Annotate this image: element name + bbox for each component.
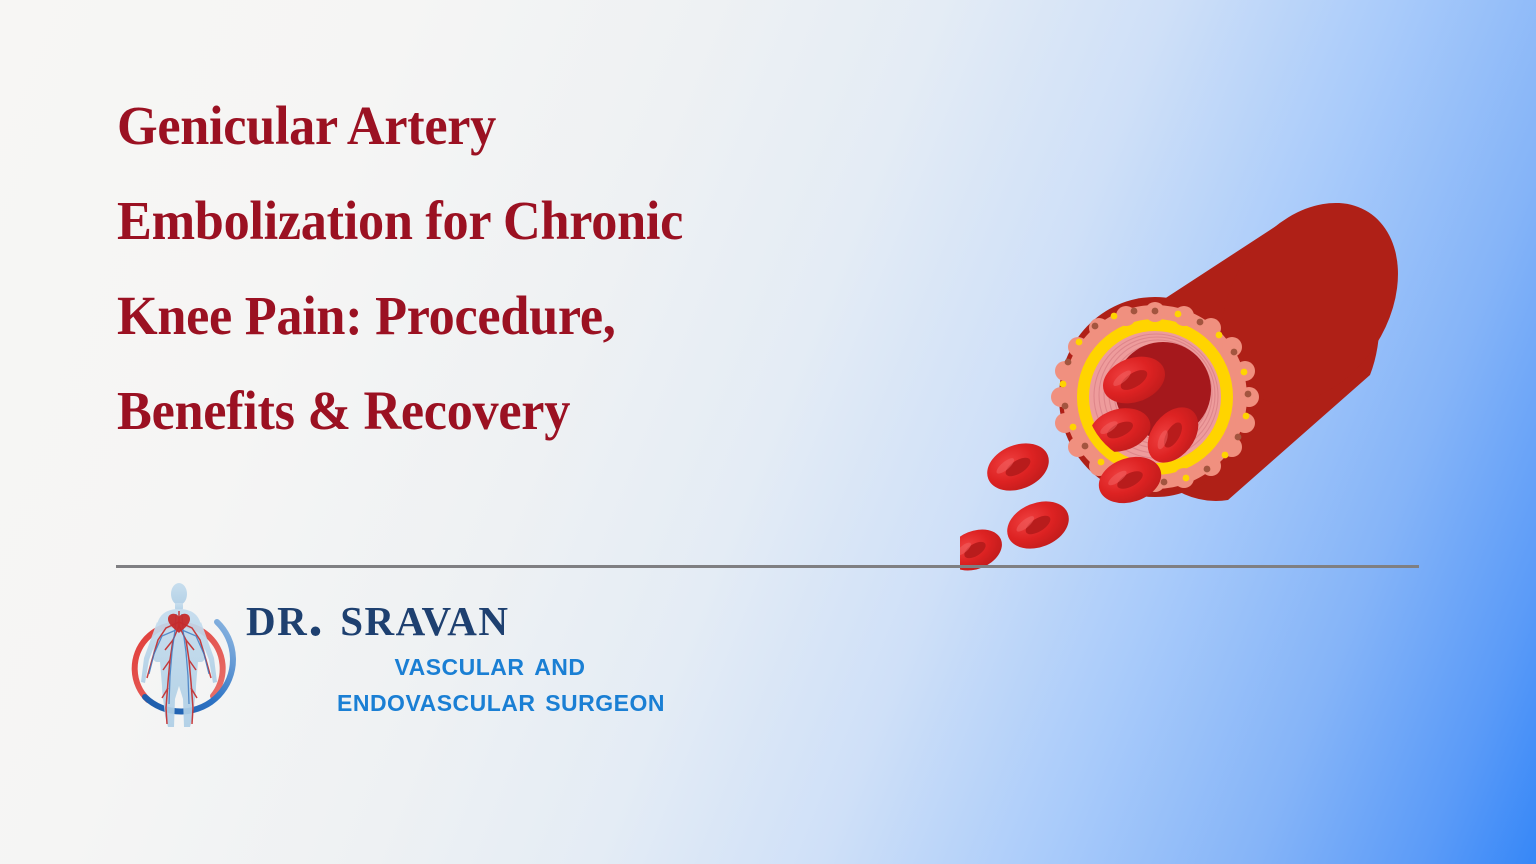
escaping-blood-cells	[960, 435, 1076, 578]
title-line-1: Genicular Artery	[117, 78, 839, 173]
title-line-4: Benefits & Recovery	[117, 363, 839, 458]
artery-cross-section-illustration	[960, 185, 1430, 585]
logo-wordmark: Dr. Sravan Vascular and Endovascular sur…	[246, 586, 756, 718]
brand-logo: Dr. Sravan Vascular and Endovascular sur…	[118, 578, 758, 733]
brand-name: Dr. Sravan	[246, 586, 756, 646]
logo-mark-svg	[118, 578, 240, 733]
brand-tagline-line-1: Vascular and	[246, 646, 756, 682]
divider-line	[116, 565, 1419, 568]
page-title: Genicular Artery Embolization for Chroni…	[117, 78, 877, 458]
presentation-slide: Genicular Artery Embolization for Chroni…	[0, 0, 1536, 864]
human-circulatory-system-icon	[118, 578, 240, 733]
title-line-2: Embolization for Chronic	[117, 173, 839, 268]
brand-tagline-line-2: Endovascular surgeon	[246, 682, 756, 718]
title-line-3: Knee Pain: Procedure,	[117, 268, 839, 363]
artery-svg	[960, 185, 1430, 585]
